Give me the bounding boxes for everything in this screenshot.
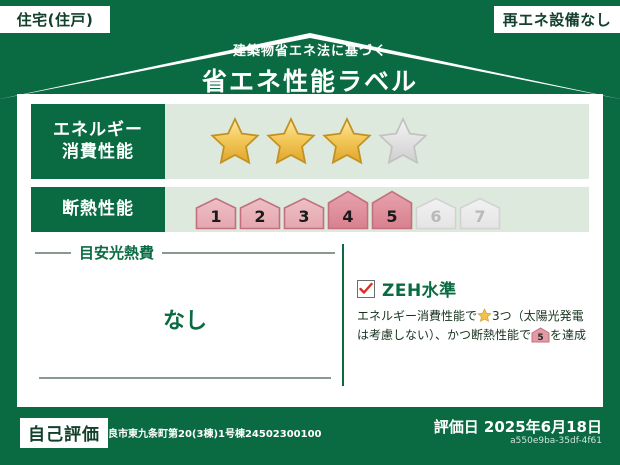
energy-performance-label: エネルギー 消費性能 bbox=[31, 104, 165, 179]
insulation-level-number: 2 bbox=[239, 207, 281, 226]
energy-label-line2: 消費性能 bbox=[62, 142, 134, 163]
main-panel: エネルギー 消費性能 断熱性能 1234567 目安光熱費 なし bbox=[17, 94, 603, 407]
insulation-level-number: 1 bbox=[195, 207, 237, 226]
zeh-desc-line2-a: は考慮しない）、かつ断熱性能で bbox=[357, 328, 531, 342]
footer-bottom-rule bbox=[0, 457, 620, 459]
star-filled-icon bbox=[321, 116, 373, 168]
svg-text:5: 5 bbox=[537, 333, 543, 343]
zeh-desc-line2-b: を達成 bbox=[550, 328, 586, 342]
utility-cost-heading-text: 目安光熱費 bbox=[79, 242, 154, 263]
energy-label-line1: エネルギー bbox=[53, 120, 143, 141]
zeh-description: エネルギー消費性能で3つ（太陽光発電 は考慮しない）、かつ断熱性能で5を達成 bbox=[357, 307, 595, 345]
insulation-performance-row: 断熱性能 1234567 bbox=[31, 187, 589, 232]
property-address: 奈良市東九条町第20(3棟)1号棟24502300100 bbox=[98, 425, 322, 440]
utility-cost-bottom-rule bbox=[39, 377, 331, 379]
heading-rule-left bbox=[35, 252, 71, 254]
insulation-level-2: 2 bbox=[239, 197, 281, 230]
building-type-badge: 住宅(住戸) bbox=[0, 6, 112, 33]
renewable-equipment-badge: 再エネ設備なし bbox=[492, 6, 620, 33]
insulation-level-7: 7 bbox=[459, 197, 501, 230]
insulation-level-number: 7 bbox=[459, 207, 501, 226]
star-empty-icon bbox=[377, 116, 429, 168]
self-evaluation-badge: 自己評価 bbox=[20, 418, 108, 448]
energy-performance-row: エネルギー 消費性能 bbox=[31, 104, 589, 179]
insulation-label-text: 断熱性能 bbox=[62, 199, 134, 220]
utility-cost-value: なし bbox=[35, 303, 335, 335]
star-rating bbox=[209, 116, 429, 168]
zeh-title: ZEH水準 bbox=[382, 276, 457, 301]
star-filled-icon bbox=[209, 116, 261, 168]
vertical-divider bbox=[342, 244, 344, 386]
zeh-block: ZEH水準 エネルギー消費性能で3つ（太陽光発電 は考慮しない）、かつ断熱性能で… bbox=[357, 276, 595, 345]
insulation-level-6: 6 bbox=[415, 197, 457, 230]
inline-house-icon: 5 bbox=[531, 327, 550, 343]
zeh-checkbox[interactable] bbox=[357, 280, 375, 298]
insulation-level-4: 4 bbox=[327, 190, 369, 230]
star-filled-icon bbox=[265, 116, 317, 168]
zeh-desc-line1-b: 3つ（太陽光発電 bbox=[492, 309, 584, 323]
insulation-level-number: 3 bbox=[283, 207, 325, 226]
evaluation-id: a550e9ba-35df-4f61 bbox=[510, 436, 602, 446]
title-main: 省エネ性能ラベル bbox=[0, 62, 620, 98]
heading-rule-right bbox=[162, 252, 335, 254]
utility-cost-block: 目安光熱費 なし bbox=[35, 242, 335, 387]
zeh-desc-line1-a: エネルギー消費性能で bbox=[357, 309, 477, 323]
label-footer: 自己評価 奈良市東九条町第20(3棟)1号棟24502300100 評価日 20… bbox=[0, 407, 620, 465]
insulation-performance-value: 1234567 bbox=[165, 187, 589, 232]
insulation-level-1: 1 bbox=[195, 197, 237, 230]
zeh-heading: ZEH水準 bbox=[357, 276, 595, 301]
inline-star-icon bbox=[477, 308, 492, 323]
utility-cost-heading: 目安光熱費 bbox=[35, 242, 335, 263]
insulation-performance-label: 断熱性能 bbox=[31, 187, 165, 232]
title-subtitle: 建築物省エネ法に基づく bbox=[0, 40, 620, 59]
evaluation-date: 評価日 2025年6月18日 bbox=[434, 416, 602, 437]
insulation-level-number: 5 bbox=[371, 207, 413, 226]
energy-performance-value bbox=[165, 104, 589, 179]
insulation-level-5: 5 bbox=[371, 190, 413, 230]
insulation-level-number: 6 bbox=[415, 207, 457, 226]
insulation-level-3: 3 bbox=[283, 197, 325, 230]
insulation-level-scale: 1234567 bbox=[195, 190, 501, 230]
energy-performance-label: 住宅(住戸) 再エネ設備なし 建築物省エネ法に基づく 省エネ性能ラベル エネルギ… bbox=[0, 0, 620, 465]
label-title: 建築物省エネ法に基づく 省エネ性能ラベル bbox=[0, 40, 620, 98]
insulation-level-number: 4 bbox=[327, 207, 369, 226]
check-icon bbox=[359, 282, 373, 296]
